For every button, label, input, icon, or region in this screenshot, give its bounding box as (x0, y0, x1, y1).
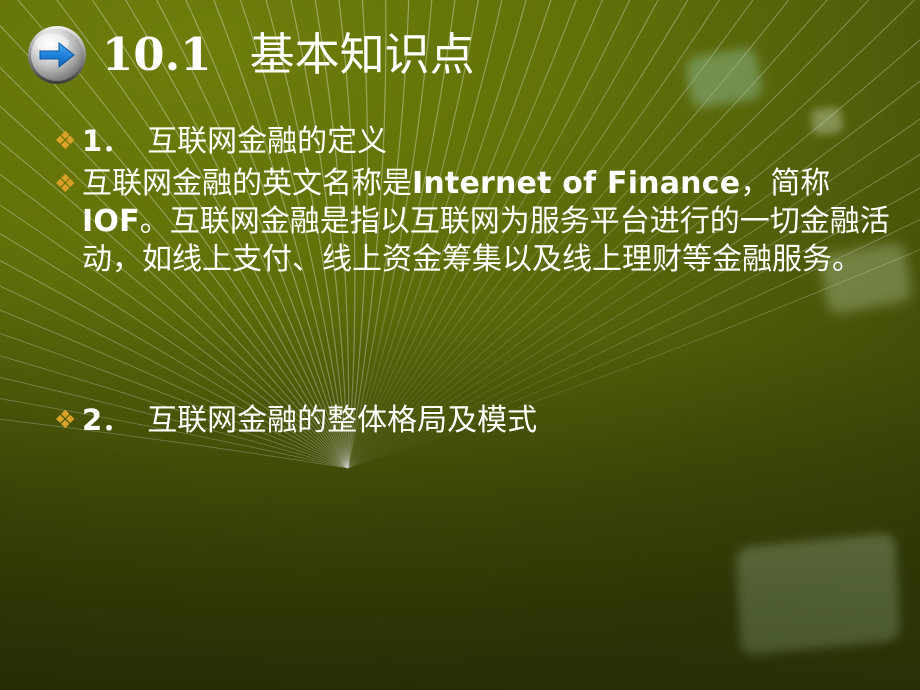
slide-canvas: 10.1基本知识点 ❖ 1．互联网金融的定义 ❖ 互联网金融的英文名称是Inte… (0, 0, 920, 690)
bullet-diamond-icon: ❖ (54, 165, 82, 203)
paragraph-segment-en-1: Internet of Finance (412, 166, 740, 201)
title-label: 基本知识点 (250, 28, 475, 81)
slide-title-row: 10.1基本知识点 (26, 24, 475, 86)
bullet-diamond-icon: ❖ (54, 401, 82, 439)
paragraph-segment-cjk-2: ，简称 (740, 166, 830, 201)
paragraph-segment-cjk-1: 互联网金融的英文名称是 (82, 166, 412, 201)
blue-arrow-circle-icon (26, 24, 88, 86)
background-vignette (0, 0, 920, 690)
list-item-label: 互联网金融的整体格局及模式 (147, 403, 537, 438)
list-item-number: 2． (82, 403, 131, 437)
title-number: 10.1 (102, 28, 212, 81)
list-item-text: 2．互联网金融的整体格局及模式 (82, 401, 537, 440)
slide-content: ❖ 1．互联网金融的定义 ❖ 互联网金融的英文名称是Internet of Fi… (54, 122, 894, 279)
paragraph-segment-cjk-3: 。互联网金融是指以互联网为服务平台进行的一切金融活动，如线上支付、线上资金筹集以… (82, 204, 890, 277)
paragraph-text: 互联网金融的英文名称是Internet of Finance，简称IOF。互联网… (82, 165, 894, 279)
list-item-number: 1． (82, 124, 131, 158)
list-item: ❖ 互联网金融的英文名称是Internet of Finance，简称IOF。互… (54, 165, 894, 279)
page-title: 10.1基本知识点 (102, 32, 475, 78)
list-item-label: 互联网金融的定义 (147, 124, 387, 159)
paragraph-segment-en-2: IOF (82, 204, 140, 239)
list-item: ❖ 1．互联网金融的定义 (54, 122, 894, 161)
bullet-diamond-icon: ❖ (54, 122, 82, 160)
list-item-text: 1．互联网金融的定义 (82, 122, 894, 161)
list-item: ❖ 2．互联网金融的整体格局及模式 (54, 401, 537, 440)
